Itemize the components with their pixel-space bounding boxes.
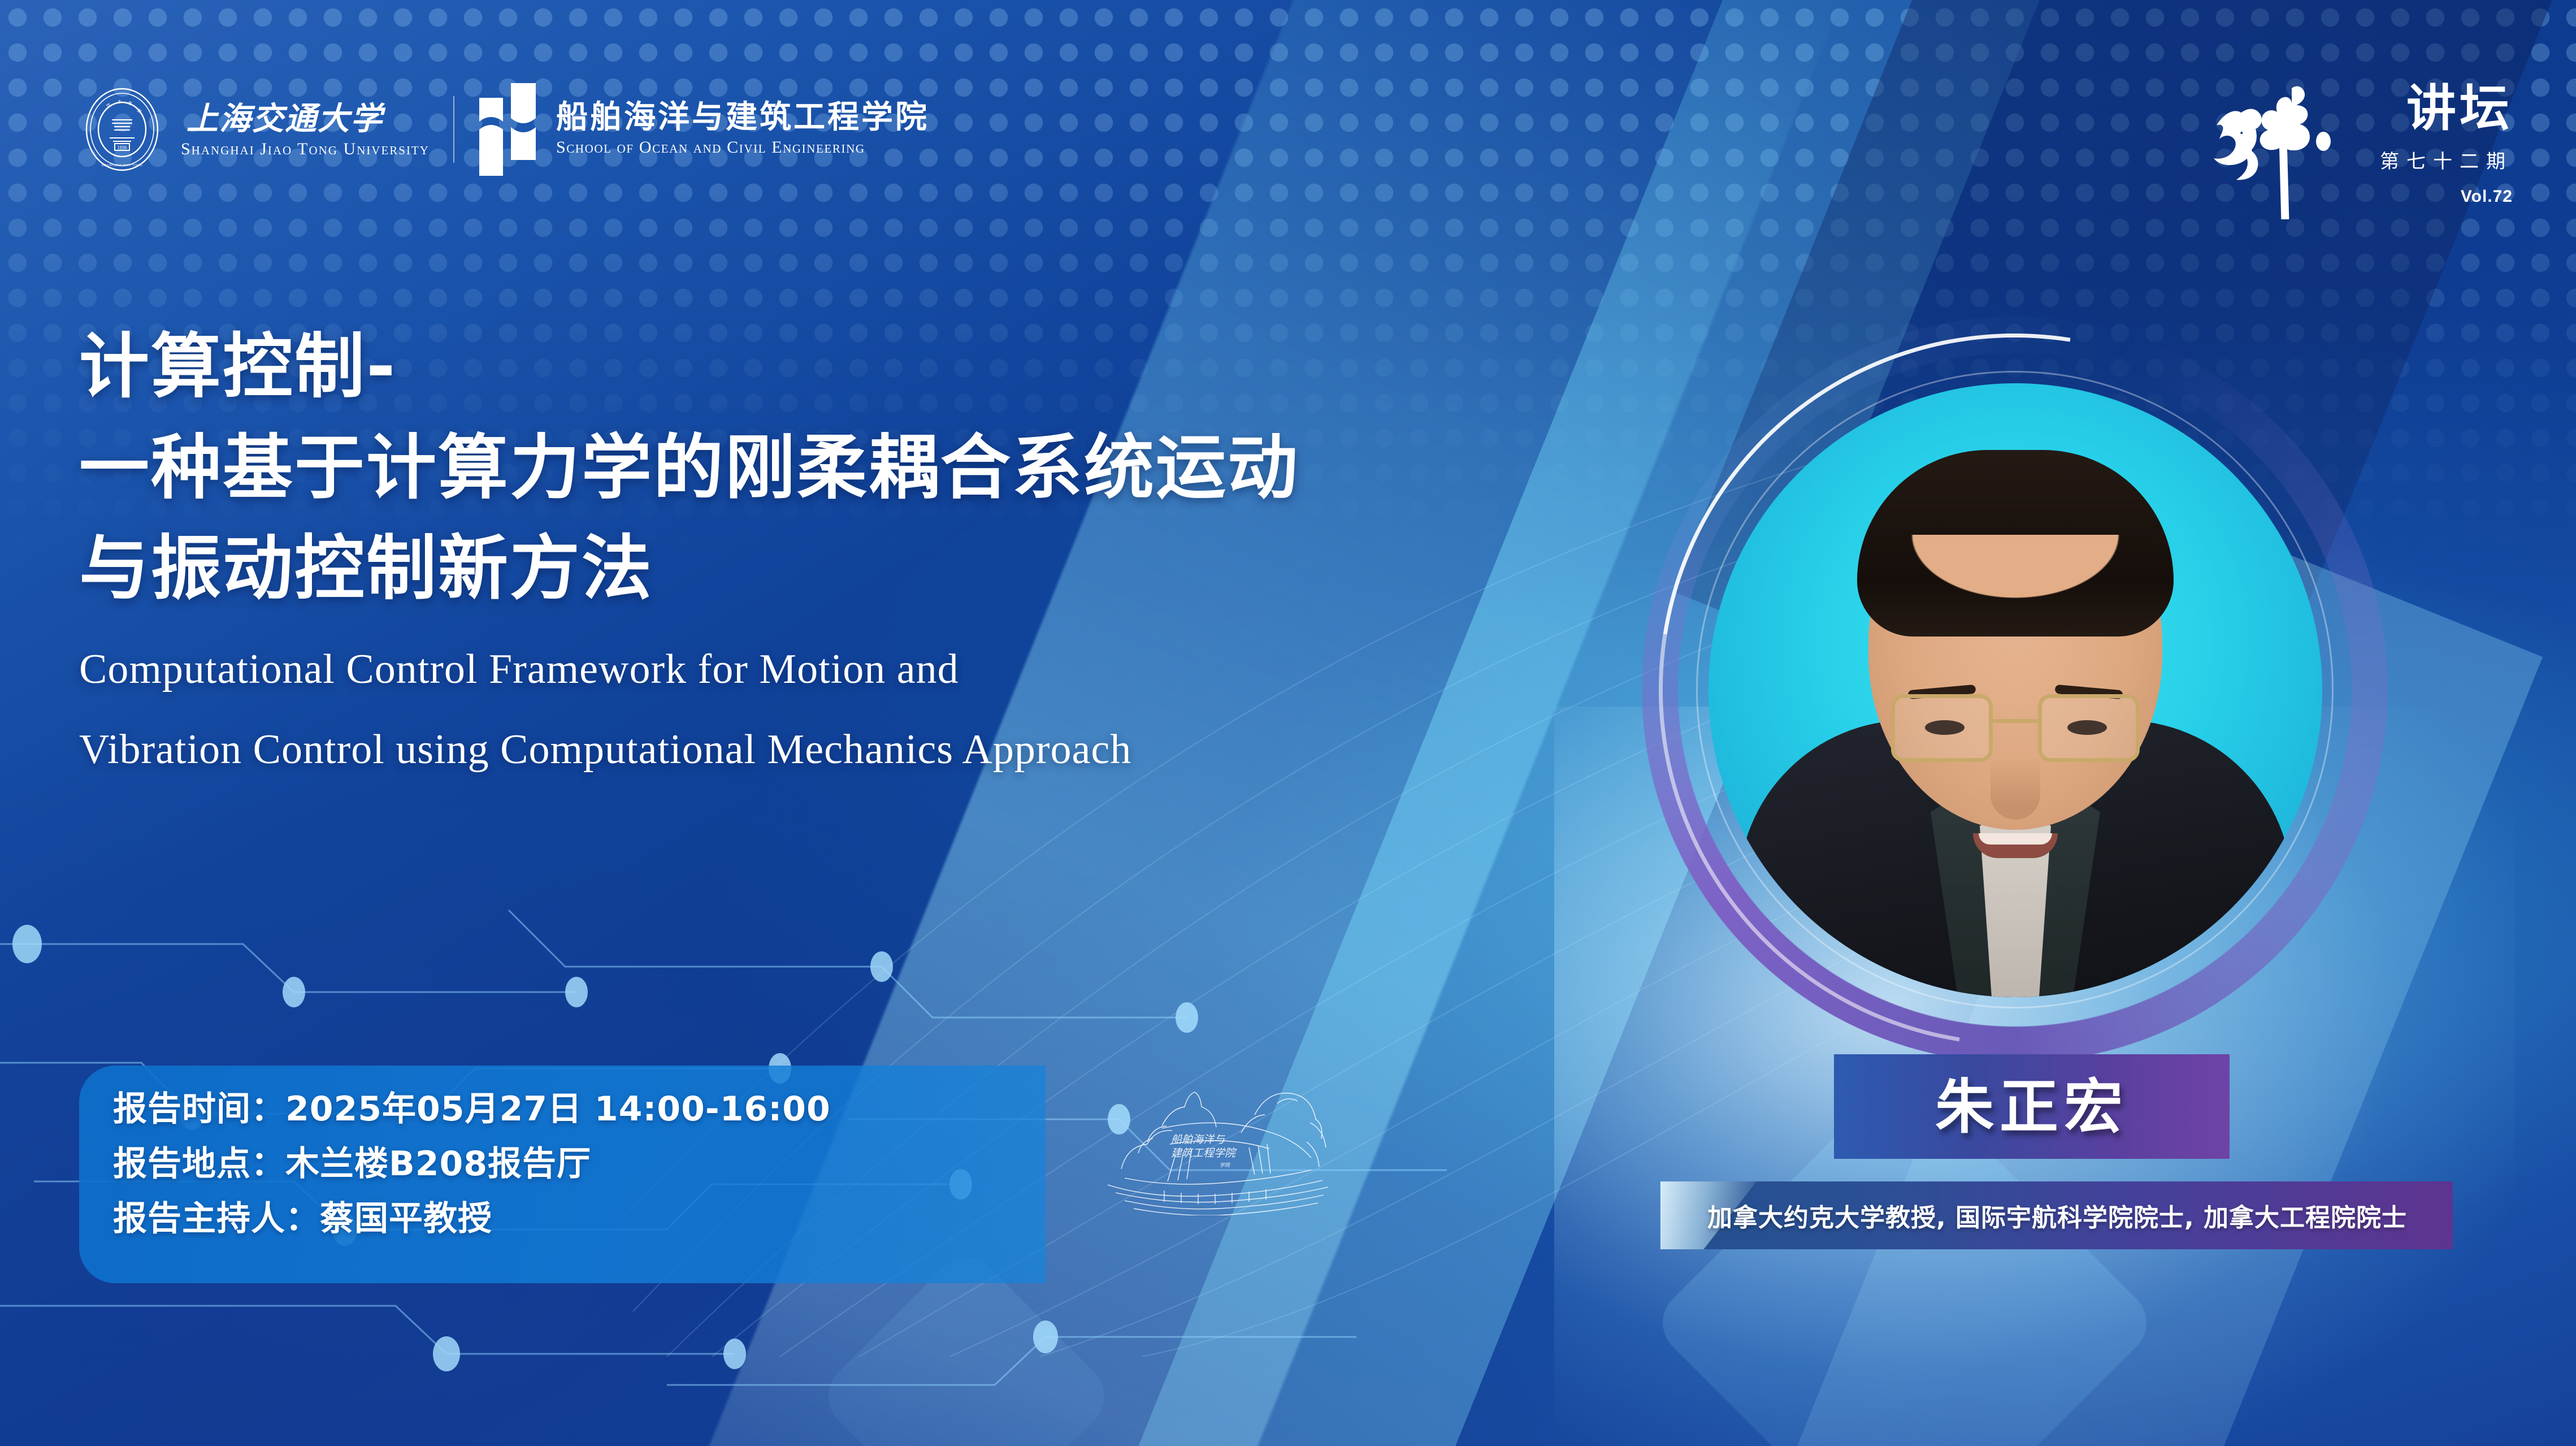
- soce-name-en: School of Ocean and Civil Engineering: [556, 138, 929, 157]
- speaker-portrait: [1642, 317, 2388, 1063]
- header-divider: [453, 96, 454, 163]
- forum-issue: 第七十二期: [2380, 146, 2513, 174]
- portrait-glasses-bridge: [1993, 719, 2038, 723]
- speaker-photo: [1708, 383, 2322, 997]
- svg-text:上海交通大学: 上海交通大学: [187, 101, 386, 136]
- speaker-credentials: 加拿大约克大学教授, 国际宇航科学院院士, 加拿大工程院院士: [1707, 1197, 2407, 1233]
- portrait-lens-left: [1891, 694, 1993, 762]
- portrait-lens-right: [2038, 694, 2140, 762]
- speaker-credentials-bar: 加拿大约克大学教授, 国际宇航科学院院士, 加拿大工程院院士: [1662, 1181, 2453, 1249]
- soce-mark-icon: [478, 82, 537, 177]
- forum-meta: 讲坛 第七十二期 Vol.72: [2380, 62, 2513, 206]
- svg-text:SHANGHAI JIAO TONG: SHANGHAI JIAO TONG: [102, 163, 143, 167]
- speaker-name: 朱正宏: [1935, 1077, 2128, 1136]
- campus-sketch-watermark: 船舶海洋与 建筑工程学院 学院: [1108, 1074, 1334, 1215]
- portrait-glasses-icon: [1891, 694, 2140, 768]
- title-block: 计算控制- 一种基于计算力学的刚柔耦合系统运动 与振动控制新方法 Computa…: [79, 317, 1831, 780]
- portrait-mouth: [1973, 833, 2058, 858]
- svg-text:1896: 1896: [117, 145, 128, 150]
- svg-text:建筑工程学院: 建筑工程学院: [1171, 1147, 1237, 1159]
- sjtu-name-cn-calligraphy: 上海交通大学: [187, 100, 424, 136]
- event-host: 报告主持人：蔡国平教授: [113, 1201, 831, 1237]
- speaker-name-plate: 朱正宏: [1834, 1054, 2230, 1159]
- forum-badge: 讲坛 第七十二期 Vol.72: [2207, 62, 2513, 219]
- title-cn-line-3: 与振动控制新方法: [79, 518, 1831, 620]
- sjtu-logo: 1896 饮 水 思 源 SHANGHAI JIAO TONG 上海交通大学 S…: [85, 87, 430, 172]
- portrait-nose: [1990, 757, 2040, 820]
- title-en-line-2: Vibration Control using Computational Me…: [79, 719, 1831, 780]
- event-time: 报告时间：2025年05月27日 14:00-16:00: [113, 1091, 831, 1128]
- event-venue: 报告地点：木兰楼B208报告厅: [113, 1146, 831, 1183]
- svg-text:学院: 学院: [1220, 1162, 1231, 1168]
- sjtu-seal-icon: 1896 饮 水 思 源 SHANGHAI JIAO TONG: [85, 87, 159, 172]
- soce-name-cn: 船舶海洋与建筑工程学院: [556, 102, 929, 133]
- header-logos: 1896 饮 水 思 源 SHANGHAI JIAO TONG 上海交通大学 S…: [85, 82, 929, 177]
- soce-wordmark: 船舶海洋与建筑工程学院 School of Ocean and Civil En…: [556, 102, 929, 157]
- title-en-line-1: Computational Control Framework for Moti…: [79, 639, 1831, 700]
- event-info-lines: 报告时间：2025年05月27日 14:00-16:00 报告地点：木兰楼B20…: [113, 1091, 831, 1237]
- svg-text:饮: 饮: [106, 102, 111, 109]
- sjtu-wordmark: 上海交通大学 Shanghai Jiao Tong University: [181, 100, 430, 159]
- seminar-poster: 1896 饮 水 思 源 SHANGHAI JIAO TONG 上海交通大学 S…: [0, 0, 2576, 1446]
- forum-volume: Vol.72: [2461, 187, 2513, 206]
- svg-text:思: 思: [127, 101, 132, 106]
- svg-text:船舶海洋与: 船舶海洋与: [1171, 1133, 1225, 1146]
- title-cn-line-1: 计算控制-: [79, 317, 1831, 418]
- portrait-hair: [1857, 450, 2174, 637]
- sjtu-name-en: Shanghai Jiao Tong University: [181, 140, 430, 159]
- forum-calligraphy-icon: [2207, 72, 2365, 219]
- soce-logo: 船舶海洋与建筑工程学院 School of Ocean and Civil En…: [478, 82, 929, 177]
- svg-text:水: 水: [118, 99, 122, 104]
- title-cn-line-2: 一种基于计算力学的刚柔耦合系统运动: [79, 418, 1831, 519]
- forum-name: 讲坛: [2406, 84, 2513, 133]
